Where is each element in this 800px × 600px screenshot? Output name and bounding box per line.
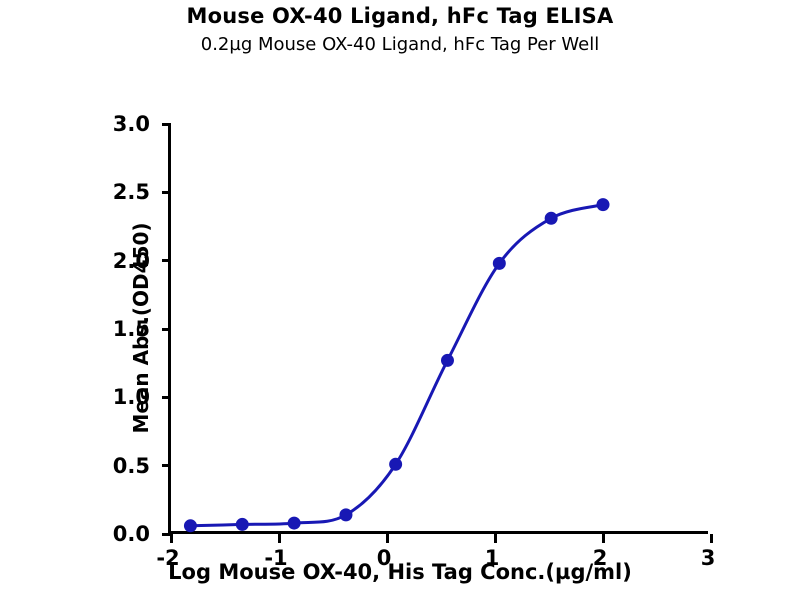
x-tick-label: -1 — [246, 546, 306, 570]
x-tick-label: 0 — [354, 546, 414, 570]
x-tick-mark — [602, 534, 605, 543]
data-point-marker — [441, 354, 454, 367]
data-point-marker — [288, 517, 301, 530]
data-point-marker — [339, 508, 352, 521]
y-tick-mark — [162, 259, 171, 262]
data-point-marker — [236, 518, 249, 531]
data-point-marker — [184, 519, 197, 532]
x-tick-mark — [278, 534, 281, 543]
data-point-marker — [389, 458, 402, 471]
x-tick-label: -2 — [138, 546, 198, 570]
y-tick-label: 1.5 — [90, 317, 150, 341]
y-tick-mark — [162, 464, 171, 467]
y-tick-label: 3.0 — [90, 112, 150, 136]
elisa-chart: Mouse OX-40 Ligand, hFc Tag ELISA 0.2µg … — [0, 0, 800, 600]
x-tick-mark — [710, 534, 713, 543]
y-tick-label: 0.0 — [90, 522, 150, 546]
x-tick-label: 2 — [570, 546, 630, 570]
data-point-marker — [493, 257, 506, 270]
x-tick-label: 3 — [678, 546, 738, 570]
chart-title: Mouse OX-40 Ligand, hFc Tag ELISA — [0, 4, 800, 28]
y-tick-label: 2.5 — [90, 180, 150, 204]
x-tick-mark — [386, 534, 389, 543]
y-tick-mark — [162, 328, 171, 331]
y-tick-label: 1.0 — [90, 385, 150, 409]
chart-subtitle: 0.2µg Mouse OX-40 Ligand, hFc Tag Per We… — [0, 34, 800, 55]
y-tick-mark — [162, 396, 171, 399]
y-tick-label: 2.0 — [90, 249, 150, 273]
y-tick-label: 0.5 — [90, 454, 150, 478]
data-curve-layer — [171, 124, 711, 534]
x-tick-mark — [170, 534, 173, 543]
y-tick-mark — [162, 123, 171, 126]
series-line — [190, 205, 603, 526]
x-tick-mark — [494, 534, 497, 543]
data-point-marker — [545, 212, 558, 225]
x-tick-label: 1 — [462, 546, 522, 570]
plot-area: Mean Abs.(OD450) — [168, 124, 708, 534]
data-point-marker — [597, 198, 610, 211]
y-tick-mark — [162, 191, 171, 194]
